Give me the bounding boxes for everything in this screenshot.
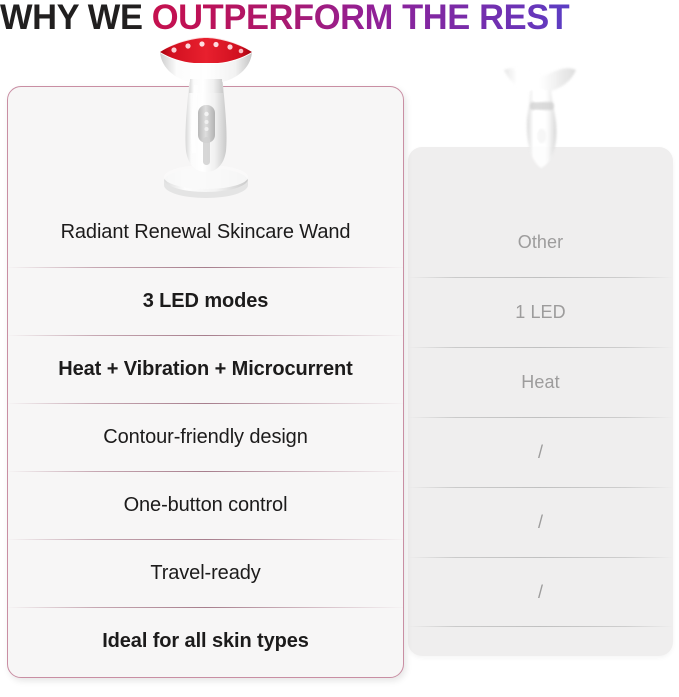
ours-feature-label: Ideal for all skin types: [88, 630, 323, 653]
row-divider: [8, 335, 403, 336]
ours-feature-label: Travel-ready: [136, 562, 274, 585]
row-divider: [408, 557, 673, 558]
row-divider: [408, 487, 673, 488]
ours-feature-row: One-button control: [8, 471, 403, 539]
ours-feature-row: Travel-ready: [8, 539, 403, 607]
other-feature-row: Heat: [408, 347, 673, 417]
row-divider: [8, 403, 403, 404]
row-divider: [408, 417, 673, 418]
page-title: WHY WE OUTPERFORM THE REST: [0, 0, 669, 39]
our-product-feature-list: Radiant Renewal Skincare Wand3 LED modes…: [8, 197, 403, 675]
comparison-infographic: WHY WE OUTPERFORM THE REST Other1 LEDHea…: [0, 0, 679, 697]
other-feature-label: /: [538, 442, 543, 463]
ours-feature-label: Radiant Renewal Skincare Wand: [47, 221, 365, 244]
our-product-card: Radiant Renewal Skincare Wand3 LED modes…: [7, 86, 404, 678]
headline-dark-text: WHY WE: [0, 0, 152, 37]
other-feature-row: /: [408, 487, 673, 557]
ours-feature-row: Radiant Renewal Skincare Wand: [8, 197, 403, 267]
other-feature-row: 1 LED: [408, 277, 673, 347]
row-divider: [8, 607, 403, 608]
ours-feature-row: 3 LED modes: [8, 267, 403, 335]
other-feature-label: Heat: [521, 372, 559, 393]
ours-feature-label: Heat + Vibration + Microcurrent: [44, 358, 366, 381]
row-divider: [8, 471, 403, 472]
ours-feature-row: Ideal for all skin types: [8, 607, 403, 675]
ours-feature-row: Heat + Vibration + Microcurrent: [8, 335, 403, 403]
row-divider: [408, 626, 673, 627]
other-feature-label: /: [538, 582, 543, 603]
other-feature-label: 1 LED: [515, 302, 566, 323]
headline-gradient-text: OUTPERFORM THE REST: [152, 0, 570, 37]
other-feature-label: /: [538, 512, 543, 533]
ours-feature-label: Contour-friendly design: [89, 426, 321, 449]
other-brand-feature-list: Other1 LEDHeat///: [408, 207, 673, 627]
other-feature-row: /: [408, 557, 673, 627]
row-divider: [8, 267, 403, 268]
ours-feature-label: One-button control: [110, 494, 302, 517]
other-feature-row: Other: [408, 207, 673, 277]
other-brand-card: Other1 LEDHeat///: [408, 147, 673, 656]
other-feature-row: /: [408, 417, 673, 487]
row-divider: [408, 347, 673, 348]
row-divider: [408, 277, 673, 278]
other-feature-label: Other: [518, 232, 564, 253]
row-divider: [8, 539, 403, 540]
ours-feature-row: Contour-friendly design: [8, 403, 403, 471]
ours-feature-label: 3 LED modes: [129, 290, 283, 313]
